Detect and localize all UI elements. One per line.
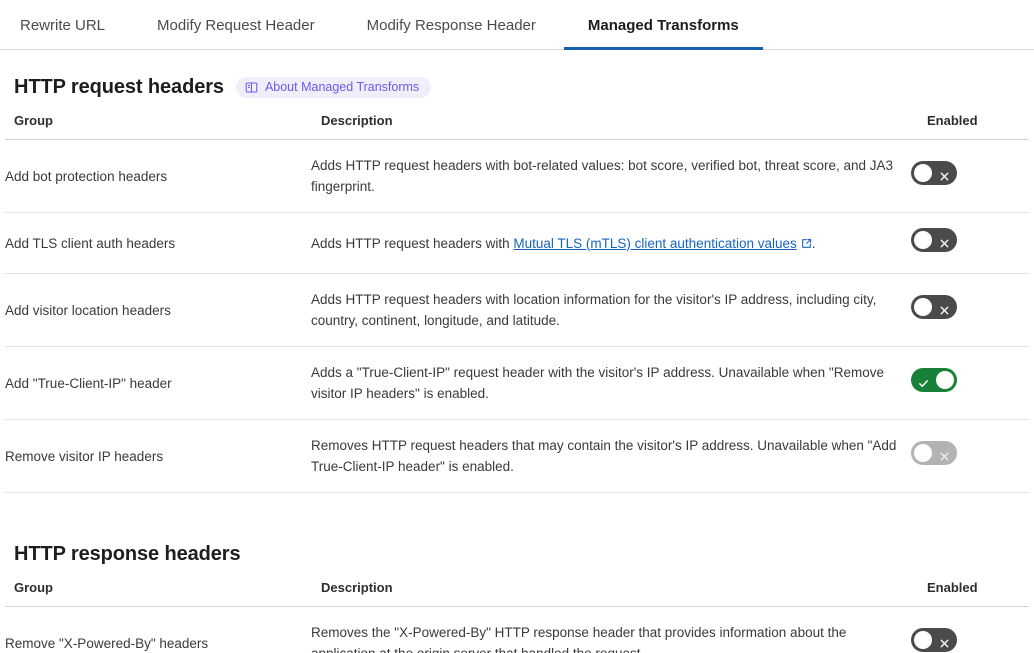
check-icon — [918, 374, 929, 385]
toggle-knob — [914, 444, 932, 462]
section-spacer — [5, 493, 1029, 517]
table-row: Add visitor location headers Adds HTTP r… — [5, 274, 1029, 347]
response-headers-table: Group Description Enabled Remove "X-Powe… — [5, 580, 1029, 653]
row-group-label: Remove "X-Powered-By" headers — [5, 607, 311, 653]
toggle-knob — [914, 231, 932, 249]
table-header-row: Group Description Enabled — [5, 580, 1029, 607]
response-section-header: HTTP response headers — [14, 543, 1029, 566]
request-headers-table: Group Description Enabled Add bot protec… — [5, 113, 1029, 493]
tab-modify-request-header[interactable]: Modify Request Header — [157, 17, 315, 49]
table-row: Remove visitor IP headers Removes HTTP r… — [5, 420, 1029, 493]
row-group-label: Add bot protection headers — [5, 140, 311, 213]
row-group-label: Remove visitor IP headers — [5, 420, 311, 493]
column-header-enabled: Enabled — [911, 580, 1029, 607]
external-link-icon — [801, 234, 812, 245]
table-row: Add TLS client auth headers Adds HTTP re… — [5, 213, 1029, 274]
tab-bar: Rewrite URL Modify Request Header Modify… — [0, 0, 1034, 50]
page-content: HTTP request headers About Managed Trans… — [0, 76, 1034, 653]
table-row: Add "True-Client-IP" header Adds a "True… — [5, 347, 1029, 420]
about-managed-transforms-badge[interactable]: About Managed Transforms — [236, 77, 431, 98]
column-header-group: Group — [5, 580, 311, 607]
column-header-description: Description — [311, 113, 911, 140]
request-section-header: HTTP request headers About Managed Trans… — [14, 76, 1029, 99]
row-description: Adds HTTP request headers with location … — [311, 274, 911, 347]
description-suffix: . — [812, 236, 816, 251]
row-group-label: Add TLS client auth headers — [5, 213, 311, 274]
table-row: Add bot protection headers Adds HTTP req… — [5, 140, 1029, 213]
tab-rewrite-url[interactable]: Rewrite URL — [20, 17, 105, 49]
toggle-remove-x-powered-by-headers[interactable] — [911, 628, 957, 652]
close-icon — [939, 447, 950, 458]
response-section-title: HTTP response headers — [14, 543, 241, 566]
book-icon — [245, 81, 258, 94]
table-header-row: Group Description Enabled — [5, 113, 1029, 140]
column-header-description: Description — [311, 580, 911, 607]
row-group-label: Add "True-Client-IP" header — [5, 347, 311, 420]
page-title: HTTP request headers — [14, 76, 224, 99]
row-enabled-cell — [911, 420, 1029, 493]
close-icon — [939, 301, 950, 312]
toggle-add-bot-protection-headers[interactable] — [911, 161, 957, 185]
column-header-group: Group — [5, 113, 311, 140]
table-row: Remove "X-Powered-By" headers Removes th… — [5, 607, 1029, 653]
row-enabled-cell — [911, 607, 1029, 653]
close-icon — [939, 234, 950, 245]
row-enabled-cell — [911, 140, 1029, 213]
mtls-documentation-link[interactable]: Mutual TLS (mTLS) client authentication … — [513, 236, 796, 251]
description-prefix: Adds HTTP request headers with — [311, 236, 513, 251]
column-header-enabled: Enabled — [911, 113, 1029, 140]
row-enabled-cell — [911, 213, 1029, 274]
row-description: Removes HTTP request headers that may co… — [311, 420, 911, 493]
close-icon — [939, 634, 950, 645]
tab-managed-transforms[interactable]: Managed Transforms — [588, 17, 739, 49]
toggle-knob — [936, 371, 954, 389]
row-description: Adds HTTP request headers with Mutual TL… — [311, 213, 911, 274]
close-icon — [939, 167, 950, 178]
tab-modify-response-header[interactable]: Modify Response Header — [367, 17, 536, 49]
toggle-add-visitor-location-headers[interactable] — [911, 295, 957, 319]
toggle-add-tls-client-auth-headers[interactable] — [911, 228, 957, 252]
row-group-label: Add visitor location headers — [5, 274, 311, 347]
row-description: Removes the "X-Powered-By" HTTP response… — [311, 607, 911, 653]
toggle-add-true-client-ip-header[interactable] — [911, 368, 957, 392]
toggle-remove-visitor-ip-headers — [911, 441, 957, 465]
toggle-knob — [914, 164, 932, 182]
row-enabled-cell — [911, 274, 1029, 347]
toggle-knob — [914, 298, 932, 316]
row-description: Adds a "True-Client-IP" request header w… — [311, 347, 911, 420]
about-badge-label: About Managed Transforms — [265, 80, 419, 95]
row-description: Adds HTTP request headers with bot-relat… — [311, 140, 911, 213]
row-enabled-cell — [911, 347, 1029, 420]
toggle-knob — [914, 631, 932, 649]
